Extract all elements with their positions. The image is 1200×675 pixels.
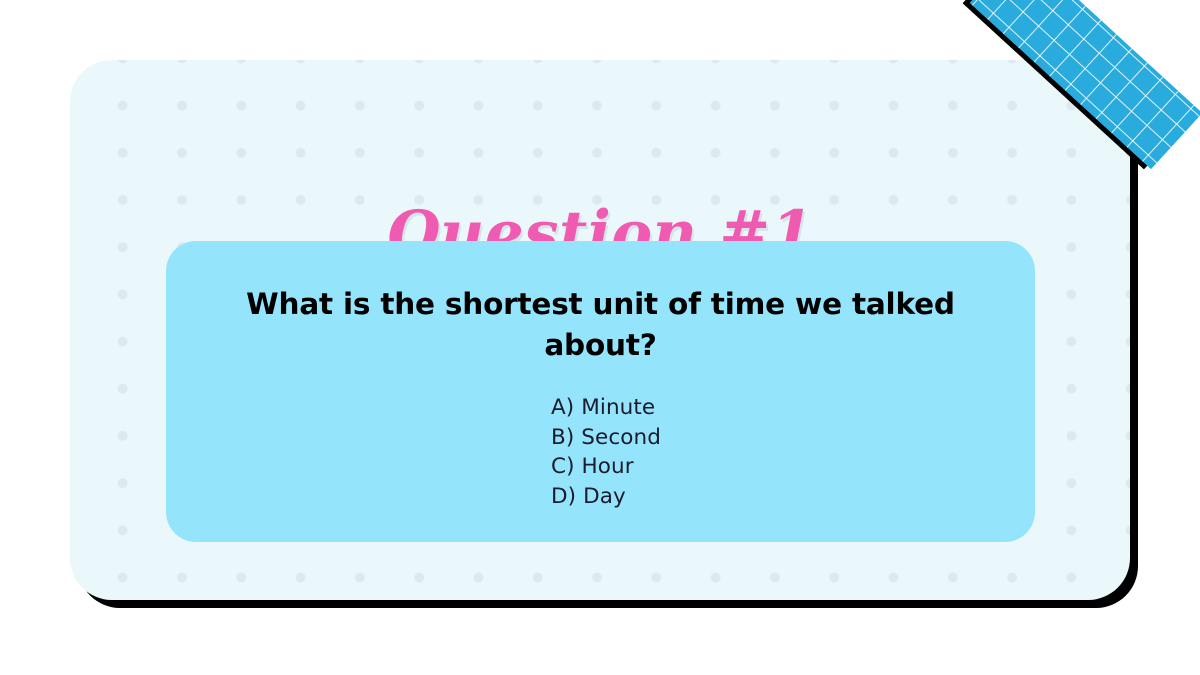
question-text: What is the shortest unit of time we tal… [230,284,971,366]
answer-option-d[interactable]: D) Day [551,482,661,512]
answer-option-b[interactable]: B) Second [551,423,661,453]
question-slide: Question #1 What is the shortest unit of… [0,0,1200,675]
question-panel: What is the shortest unit of time we tal… [166,241,1035,542]
answer-option-a[interactable]: A) Minute [551,393,661,423]
slide-card: Question #1 What is the shortest unit of… [70,60,1130,600]
answer-options-list: A) Minute B) Second C) Hour D) Day [551,393,661,511]
answer-option-c[interactable]: C) Hour [551,452,661,482]
